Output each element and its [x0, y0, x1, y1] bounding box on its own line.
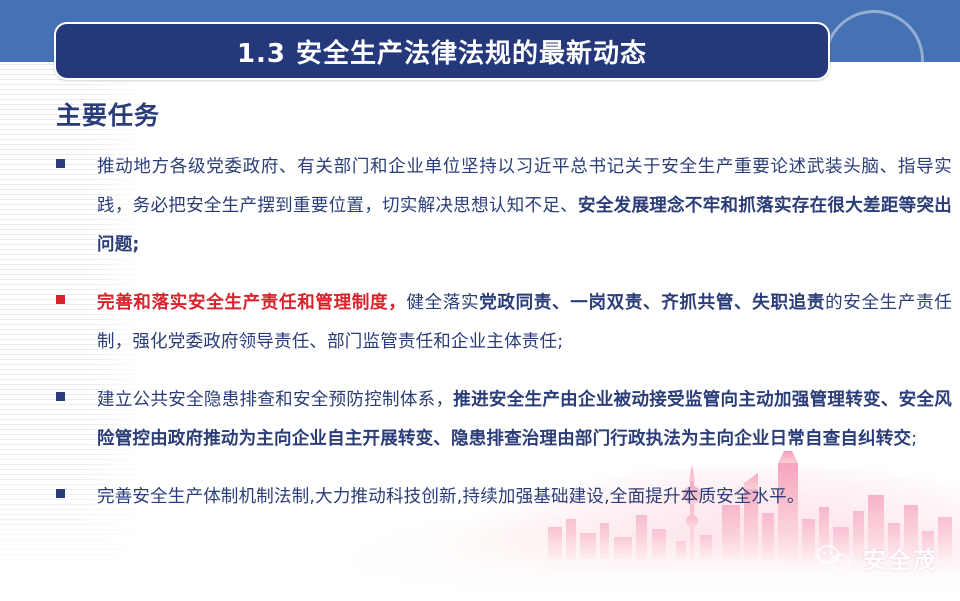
bullet-text: 建立公共安全隐患排查和安全预防控制体系，推进安全生产由企业被动接受监管向主动加强… [97, 381, 952, 459]
bullet-square-icon [56, 295, 65, 304]
slide-root: 1.3 安全生产法律法规的最新动态 主要任务 推动地方各级党委政府、有关部门和企… [0, 0, 960, 601]
list-item: 完善和落实安全生产责任和管理制度，健全落实党政同责、一岗双责、齐抓共管、失职追责… [56, 284, 952, 362]
bullet-segment: 完善安全生产体制机制法制,大力推动科技创新,持续加强基础建设,全面提升本质安全水… [97, 487, 805, 507]
slide-title-plaque: 1.3 安全生产法律法规的最新动态 [54, 22, 830, 80]
wechat-bubbles-icon [815, 543, 853, 573]
section-heading: 主要任务 [56, 96, 160, 132]
list-item: 完善安全生产体制机制法制,大力推动科技创新,持续加强基础建设,全面提升本质安全水… [56, 478, 952, 517]
bullet-square-icon [56, 159, 65, 168]
list-item: 推动地方各级党委政府、有关部门和企业单位坚持以习近平总书记关于安全生产重要论述武… [56, 148, 952, 265]
watermark-label: 安全茂 [863, 541, 938, 575]
bullet-square-icon [56, 392, 65, 401]
bullet-segment: ; [911, 429, 917, 449]
bullet-segment: 建立公共安全隐患排查和安全预防控制体系， [97, 390, 453, 410]
bullet-text: 推动地方各级党委政府、有关部门和企业单位坚持以习近平总书记关于安全生产重要论述武… [97, 148, 952, 265]
watermark: 安全茂 [815, 541, 938, 575]
bullet-square-icon [56, 489, 65, 498]
bullet-text: 完善和落实安全生产责任和管理制度，健全落实党政同责、一岗双责、齐抓共管、失职追责… [97, 284, 952, 362]
bullet-list: 推动地方各级党委政府、有关部门和企业单位坚持以习近平总书记关于安全生产重要论述武… [56, 148, 952, 536]
page-title: 1.3 安全生产法律法规的最新动态 [237, 33, 647, 70]
bullet-segment-highlight: 完善和落实安全生产责任和管理制度， [97, 293, 406, 313]
list-item: 建立公共安全隐患排查和安全预防控制体系，推进安全生产由企业被动接受监管向主动加强… [56, 381, 952, 459]
bullet-segment: 健全落实 [406, 293, 479, 313]
bullet-text: 完善安全生产体制机制法制,大力推动科技创新,持续加强基础建设,全面提升本质安全水… [97, 478, 952, 517]
bullet-segment-bold: 党政同责、一岗双责、齐抓共管、失职追责 [479, 293, 825, 313]
